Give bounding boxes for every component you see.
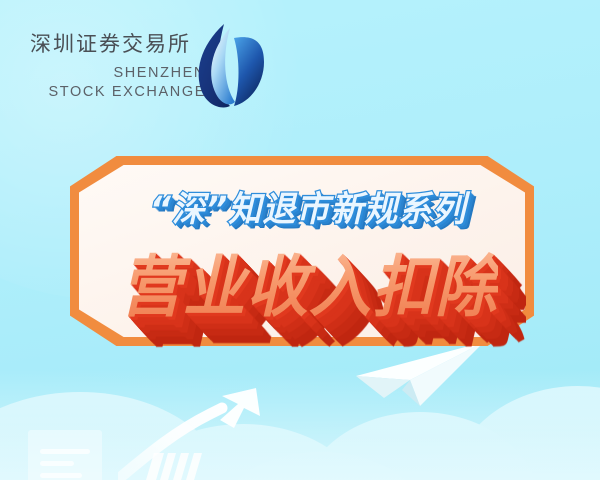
document-line bbox=[40, 461, 74, 466]
brand-name-en-line1: SHENZHEN bbox=[30, 64, 206, 83]
document-line bbox=[40, 473, 82, 478]
szse-leaf-logo-icon bbox=[190, 22, 266, 110]
brand-name-en-line2: STOCK EXCHANGE bbox=[30, 83, 206, 102]
document-card-icon bbox=[28, 430, 102, 480]
paper-plane-icon bbox=[354, 340, 488, 408]
title-plaque: “深”知退市新规系列 营业收入扣除 bbox=[70, 156, 534, 346]
banner-title: 营业收入扣除 bbox=[120, 232, 498, 329]
poster-canvas: 深圳证券交易所 SHENZHEN STOCK EXCHANGE bbox=[0, 0, 600, 480]
document-line bbox=[40, 449, 90, 454]
curved-growth-arrow-icon bbox=[118, 382, 298, 480]
banner-subtitle: “深”知退市新规系列 bbox=[150, 181, 467, 232]
